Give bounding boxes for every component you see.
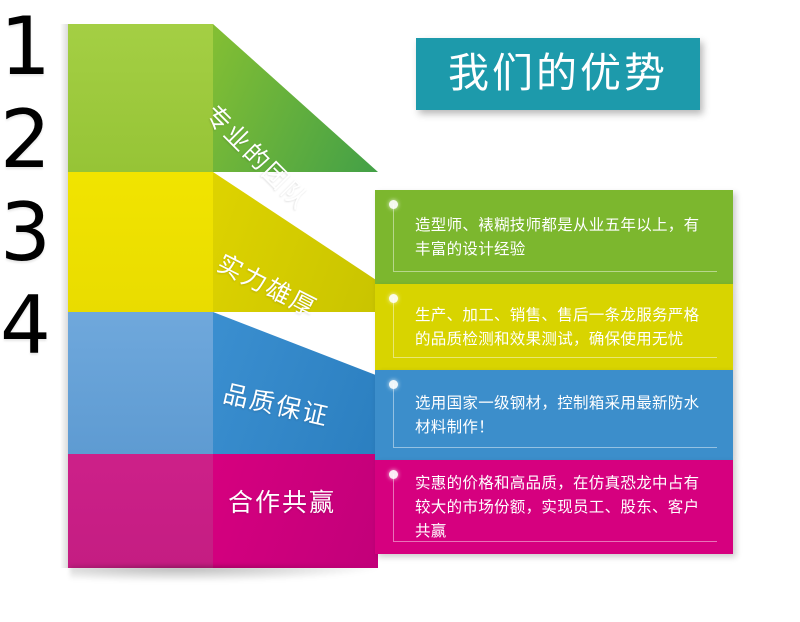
bullet-dot-icon: [389, 200, 398, 209]
advantages-infographic: 我们的优势 1 专业的团队 2 实力雄厚 3 品质保证 4 合作共赢 造型师、裱…: [0, 0, 800, 622]
panel-text-4: 实惠的价格和高品质，在仿真恐龙中占有较大的市场份额，实现员工、股东、客户共赢: [415, 471, 705, 543]
panel-text-3: 选用国家一级钢材，控制箱采用最新防水材料制作！: [415, 391, 705, 439]
step-label-4: 合作共赢: [228, 483, 336, 519]
tower-ground-shadow: [70, 566, 380, 582]
panel-text-2: 生产、加工、销售、售后一条龙服务严格的品质检测和效果测试，确保使用无忧: [415, 303, 705, 351]
bullet-dot-icon: [389, 294, 398, 303]
description-panel-1: 造型师、裱糊技师都是从业五年以上，有丰富的设计经验: [375, 190, 733, 284]
step-block-1-face: [68, 24, 213, 172]
step-block-4-face: [68, 454, 213, 568]
step-block-2-face: [68, 172, 213, 312]
bullet-dot-icon: [389, 380, 398, 389]
page-title-banner: 我们的优势: [416, 38, 700, 110]
step-block-3-face: [68, 312, 213, 454]
description-panel-3: 选用国家一级钢材，控制箱采用最新防水材料制作！: [375, 370, 733, 460]
description-panel-2: 生产、加工、销售、售后一条龙服务严格的品质检测和效果测试，确保使用无忧: [375, 284, 733, 370]
panel-text-1: 造型师、裱糊技师都是从业五年以上，有丰富的设计经验: [415, 213, 705, 261]
description-panel-4: 实惠的价格和高品质，在仿真恐龙中占有较大的市场份额，实现员工、股东、客户共赢: [375, 460, 733, 554]
bullet-dot-icon: [389, 470, 398, 479]
page-title: 我们的优势: [448, 53, 668, 94]
